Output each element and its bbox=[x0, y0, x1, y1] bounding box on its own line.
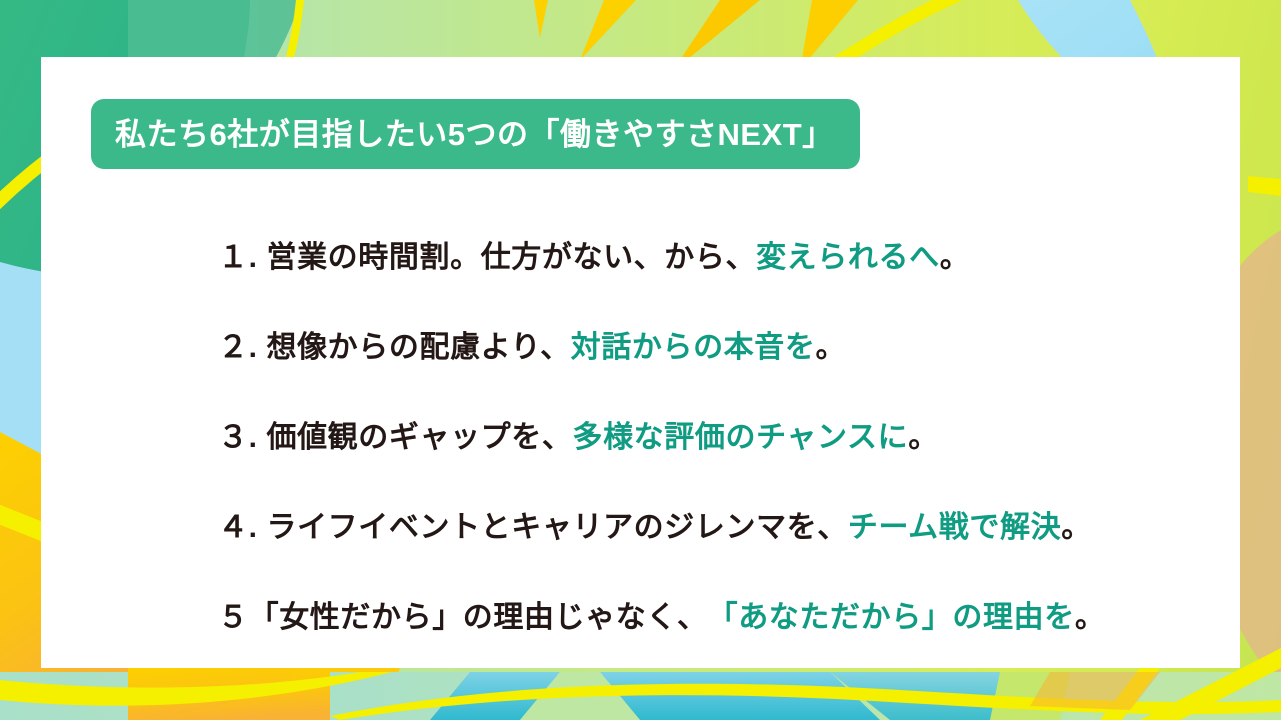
points-list: １. 営業の時間割。仕方がない、から、 変えられるへ 。 ２. 想像からの配慮よ… bbox=[218, 209, 1218, 659]
list-item-tail: 。 bbox=[940, 232, 971, 276]
list-item: ４. ライフイベントとキャリアのジレンマを、 チーム戦で解決 。 bbox=[218, 479, 1218, 569]
list-item: ５「女性だから」の理由じゃなく、 「あなただから」の理由を 。 bbox=[218, 569, 1218, 659]
list-item-accent: 対話からの本音を bbox=[571, 322, 816, 366]
list-item-accent: 変えられるへ bbox=[756, 232, 940, 276]
list-item-accent: 「あなただから」の理由を bbox=[708, 592, 1075, 636]
list-item-accent: 多様な評価のチャンスに bbox=[572, 412, 908, 456]
title-banner: 私たち6社が目指したい5つの「働きやすさNEXT」 bbox=[91, 99, 860, 169]
slide-title: 私たち6社が目指したい5つの「働きやすさNEXT」 bbox=[115, 119, 834, 150]
list-item-lead: １. 営業の時間割。仕方がない、から、 bbox=[218, 232, 756, 276]
list-item-tail: 。 bbox=[815, 322, 846, 366]
list-item-accent: チーム戦で解決 bbox=[848, 502, 1061, 546]
list-item-tail: 。 bbox=[1061, 502, 1092, 546]
presentation-slide: 私たち6社が目指したい5つの「働きやすさNEXT」 １. 営業の時間割。仕方がな… bbox=[0, 0, 1281, 720]
list-item-lead: ２. 想像からの配慮より、 bbox=[218, 322, 571, 366]
list-item-lead: ３. 価値観のギャップを、 bbox=[218, 412, 572, 456]
list-item: １. 営業の時間割。仕方がない、から、 変えられるへ 。 bbox=[218, 209, 1218, 299]
list-item: ２. 想像からの配慮より、 対話からの本音を 。 bbox=[218, 299, 1218, 389]
list-item: ３. 価値観のギャップを、 多様な評価のチャンスに 。 bbox=[218, 389, 1218, 479]
list-item-lead: ５「女性だから」の理由じゃなく、 bbox=[218, 592, 708, 636]
slide-card: 私たち6社が目指したい5つの「働きやすさNEXT」 １. 営業の時間割。仕方がな… bbox=[41, 57, 1240, 668]
list-item-lead: ４. ライフイベントとキャリアのジレンマを、 bbox=[218, 502, 848, 546]
list-item-tail: 。 bbox=[908, 412, 939, 456]
list-item-tail: 。 bbox=[1075, 592, 1106, 636]
